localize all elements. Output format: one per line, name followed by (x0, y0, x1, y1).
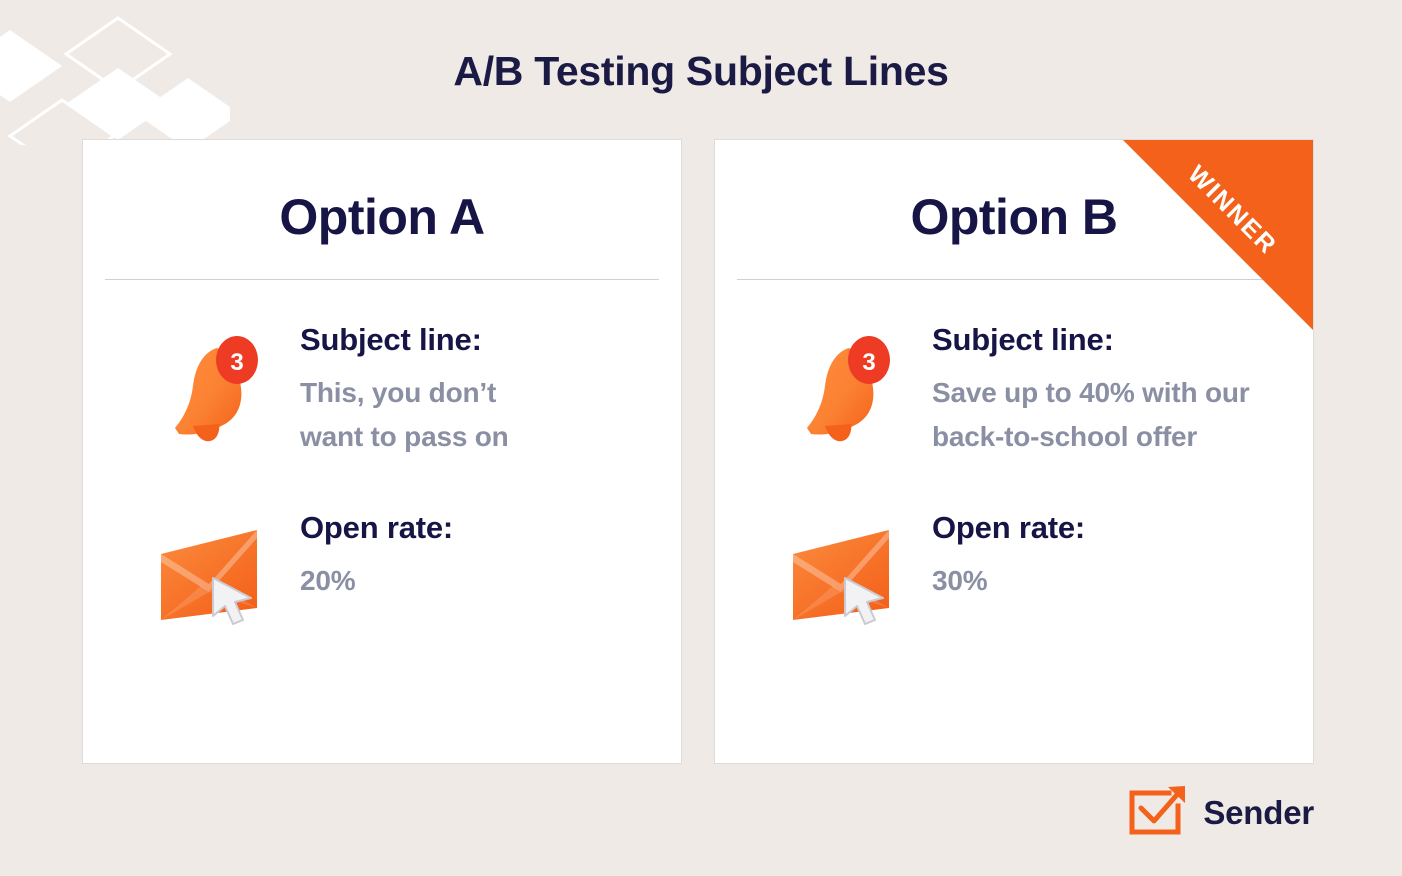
bell-notification-icon: 3 (757, 320, 932, 452)
winner-ribbon-triangle (1123, 140, 1313, 330)
option-card-a[interactable]: Option A (82, 139, 682, 764)
subject-line-text: Subject line: This, you don’t want to pa… (300, 320, 641, 458)
open-rate-text: Open rate: 20% (300, 508, 641, 603)
open-rate-text: Open rate: 30% (932, 508, 1273, 603)
open-rate-row: Open rate: 30% (757, 508, 1273, 626)
card-rows-a: 3 Subject line: This, you don’t want to … (83, 320, 681, 626)
card-rows-b: 3 Subject line: Save up to 40% with our … (715, 320, 1313, 626)
open-rate-label: Open rate: (932, 510, 1273, 546)
subject-line-label: Subject line: (300, 322, 641, 358)
open-rate-value: 20% (300, 559, 641, 603)
page-title: A/B Testing Subject Lines (0, 48, 1402, 95)
bell-notification-icon: 3 (125, 320, 300, 452)
subject-line-row: 3 Subject line: This, you don’t want to … (125, 320, 641, 458)
subject-line-value: This, you don’t want to pass on (300, 371, 565, 458)
card-divider (105, 279, 659, 280)
option-card-b[interactable]: WINNER Option B (714, 139, 1314, 764)
open-rate-label: Open rate: (300, 510, 641, 546)
open-rate-row: Open rate: 20% (125, 508, 641, 626)
subject-line-value: Save up to 40% with our back-to-school o… (932, 371, 1273, 458)
subject-line-row: 3 Subject line: Save up to 40% with our … (757, 320, 1273, 458)
open-rate-value: 30% (932, 559, 1273, 603)
bell-badge-count: 3 (862, 349, 875, 376)
bell-badge-count: 3 (230, 349, 243, 376)
winner-ribbon: WINNER (1123, 140, 1313, 330)
sender-checkmark-arrow-logo-icon (1127, 784, 1189, 841)
sender-brand-name: Sender (1203, 794, 1314, 832)
subject-line-text: Subject line: Save up to 40% with our ba… (932, 320, 1273, 458)
options-container: Option A (82, 139, 1314, 764)
envelope-cursor-icon (757, 508, 932, 626)
envelope-cursor-icon (125, 508, 300, 626)
sender-logo[interactable]: Sender (1127, 784, 1314, 841)
card-title-a: Option A (83, 188, 681, 246)
